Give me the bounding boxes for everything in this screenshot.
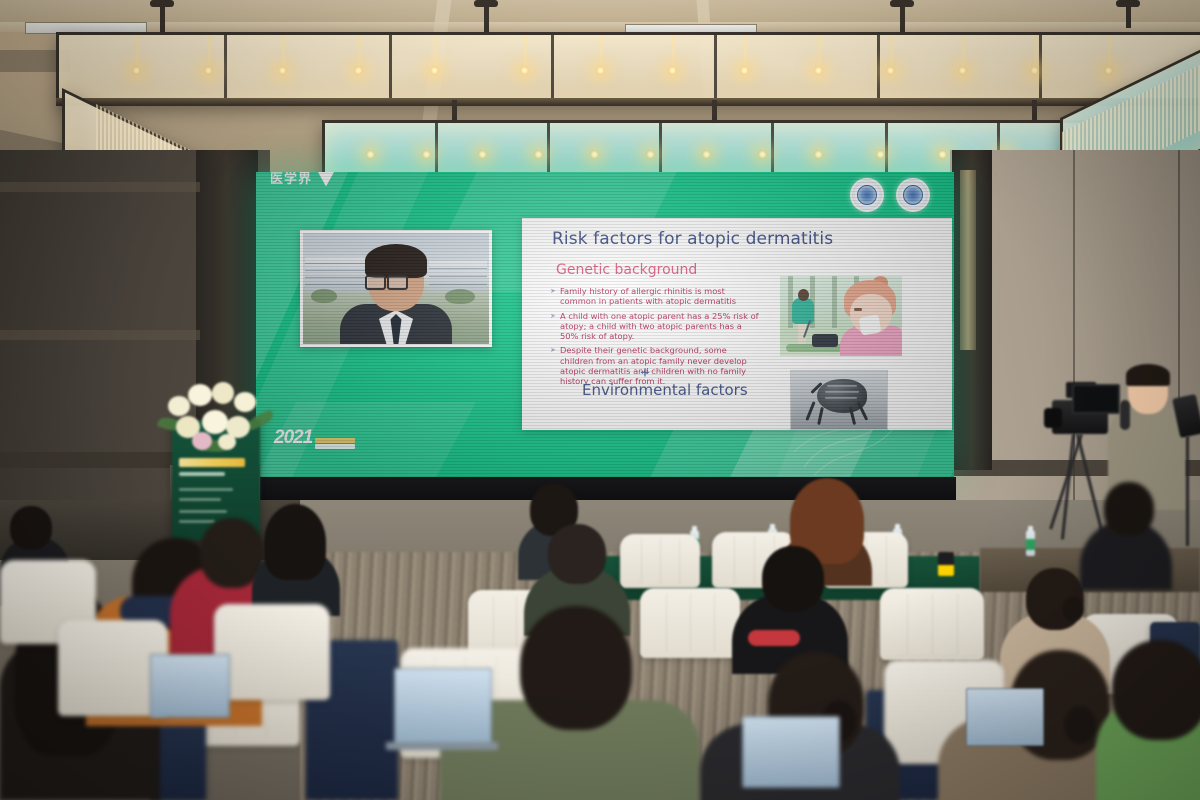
- chandelier-bulb: [520, 66, 529, 75]
- ceiling-beam: [0, 22, 1200, 32]
- chandelier-bulb: [354, 66, 363, 75]
- chandelier-bulb: [596, 66, 605, 75]
- chandelier-bulb: [886, 66, 895, 75]
- video-camera-lens: [1044, 408, 1062, 428]
- chandelier-bulb: [740, 66, 749, 75]
- chandelier-rod-cap: [890, 0, 914, 7]
- chandelier-bulb: [132, 66, 141, 75]
- chandelier-bulb: [668, 66, 677, 75]
- water-bottle: [1026, 530, 1035, 556]
- headphones: [1120, 400, 1130, 430]
- chandelier-bulb: [1030, 66, 1039, 75]
- chandelier-bulb: [430, 66, 439, 75]
- tabletop-box: [938, 552, 954, 576]
- hoodie-drawstring: [748, 630, 800, 646]
- operator-hair: [1126, 364, 1170, 386]
- chandelier-rod-cap: [1116, 0, 1140, 7]
- floral-arrangement: [156, 376, 276, 454]
- tripod-leg: [1186, 436, 1189, 546]
- chandelier-rod-cap: [150, 0, 174, 7]
- chandelier-rod-cap: [474, 0, 498, 7]
- camera-monitor: [1072, 384, 1120, 414]
- chandelier-bulb: [958, 66, 967, 75]
- chandelier-bulb: [278, 66, 287, 75]
- chandelier-upper-frame: [56, 32, 1200, 106]
- column-metal-strip: [960, 170, 976, 350]
- led-screen: 医学界 2021: [256, 172, 954, 477]
- chandelier-bulb: [204, 66, 213, 75]
- conference-hall-photo: 医学界 2021: [0, 0, 1200, 800]
- chandelier-bulb: [1104, 66, 1113, 75]
- chandelier-bottom-rail: [56, 98, 1200, 105]
- chandelier-bulb: [814, 66, 823, 75]
